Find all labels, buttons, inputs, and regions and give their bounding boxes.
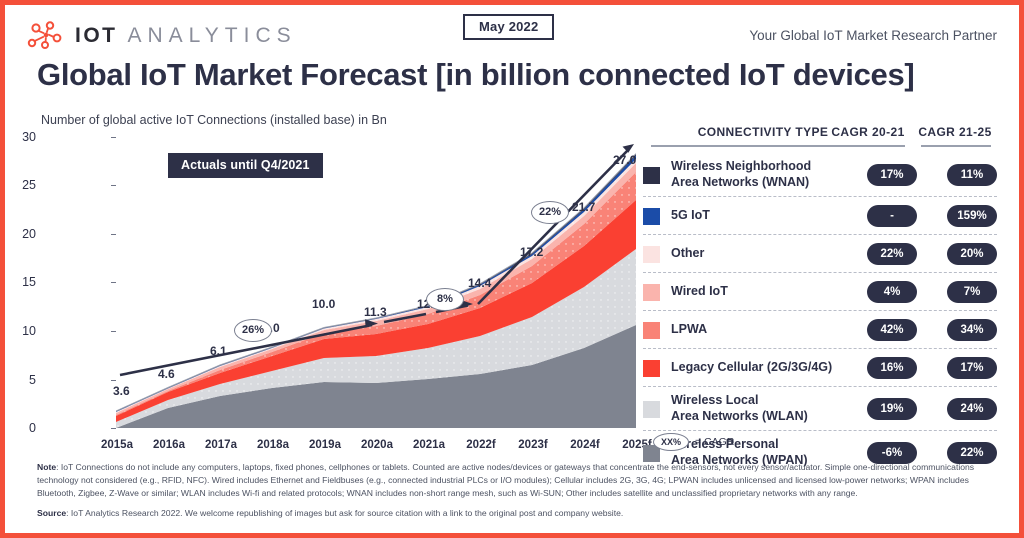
cagr-pill-20-21: - [867, 205, 917, 227]
data-label-2019a: 10.0 [312, 297, 335, 311]
cagr-pill-21-25: 34% [947, 319, 997, 341]
source-body: : IoT Analytics Research 2022. We welcom… [66, 508, 623, 518]
cagr-pill-20-21: 19% [867, 398, 917, 420]
legend-swatch-wlan [643, 401, 660, 418]
legend-table: CONNECTIVITY TYPE CAGR 20-21 CAGR 21-25 … [643, 123, 1003, 475]
y-tick-label: 15 [0, 275, 36, 289]
date-badge: May 2022 [463, 14, 554, 40]
cagr-pill-20-21: 4% [867, 281, 917, 303]
legend-swatch-lpwa [643, 322, 660, 339]
data-label-2020a: 11.3 [364, 305, 387, 319]
cagr-pill-20-21: 17% [867, 164, 917, 186]
tagline: Your Global IoT Market Research Partner [749, 28, 997, 43]
legend-label-line2: Area Networks (WLAN) [671, 409, 808, 423]
y-tick-label: 0 [0, 421, 36, 435]
cagr-pill-21-25: 24% [947, 398, 997, 420]
note-label: Note [37, 462, 56, 472]
note-body: : IoT Connections do not include any com… [37, 462, 974, 498]
cagr-pill-20-21: 16% [867, 357, 917, 379]
cagr-pill-21-25: 17% [947, 357, 997, 379]
chart-plot-area: Actuals until Q4/2021 3.6 4.6 6.1 8.0 10… [116, 137, 636, 437]
y-tick-label: 25 [0, 178, 36, 192]
data-label-2015a: 3.6 [113, 384, 130, 398]
cagr-key: XX% = CAGR [653, 433, 734, 451]
legend-label-wired-iot: Wired IoT [671, 284, 859, 300]
legend-label-line1: Wireless Neighborhood [671, 159, 811, 173]
data-label-2017a: 6.1 [210, 344, 227, 358]
cagr-pill-21-25: 159% [947, 205, 997, 227]
cagr-pill-21-25: 11% [947, 164, 997, 186]
cagr-key-bubble: XX% [653, 433, 689, 451]
legend-row-other[interactable]: Other 22% 20% [643, 235, 1003, 273]
legend-swatch-wired-iot [643, 284, 660, 301]
area-chart: 30 25 20 15 10 5 0 [41, 127, 637, 447]
logo-text-analytics: ANALYTICS [128, 24, 297, 48]
legend-swatch-legacy-cellular [643, 360, 660, 377]
legend-row-legacy-cellular[interactable]: Legacy Cellular (2G/3G/4G) 16% 17% [643, 349, 1003, 387]
cagr-pill-21-25: 7% [947, 281, 997, 303]
legend-row-wlan[interactable]: Wireless Local Area Networks (WLAN) 19% … [643, 387, 1003, 431]
cagr-annotation-8: 8% [426, 288, 464, 311]
legend-label-lpwa: LPWA [671, 322, 859, 338]
cagr-annotation-26: 26% [234, 319, 272, 342]
network-nodes-icon [27, 21, 65, 51]
legend-row-5g-iot[interactable]: 5G IoT - 159% [643, 197, 1003, 235]
source-label: Source [37, 508, 66, 518]
legend-label-other: Other [671, 246, 859, 262]
footnotes: Note: IoT Connections do not include any… [37, 461, 999, 520]
y-tick-label: 30 [0, 130, 36, 144]
source-paragraph: Source: IoT Analytics Research 2022. We … [37, 507, 999, 520]
note-paragraph: Note: IoT Connections do not include any… [37, 461, 999, 500]
page-title: Global IoT Market Forecast [in billion c… [37, 57, 914, 93]
legend-label-5g-iot: 5G IoT [671, 208, 859, 224]
data-label-2016a: 4.6 [158, 367, 175, 381]
legend-swatch-wnan [643, 167, 660, 184]
chart-subtitle: Number of global active IoT Connections … [41, 113, 387, 127]
cagr-pill-20-21: 22% [867, 243, 917, 265]
legend-label-wnan: Wireless Neighborhood Area Networks (WNA… [671, 159, 859, 190]
legend-label-wlan: Wireless Local Area Networks (WLAN) [671, 393, 859, 424]
data-label-2024f: 21.7 [572, 200, 595, 214]
data-label-2025f: 27.0 [613, 153, 636, 167]
legend-label-line2: Area Networks (WNAN) [671, 175, 809, 189]
legend-label-line1: Wireless Local [671, 393, 758, 407]
data-label-2022f: 14.4 [468, 276, 491, 290]
legend-header-cagr-21-25: CAGR 21-25 [915, 125, 995, 139]
logo-text-iot: IOT [75, 24, 118, 48]
y-tick-label: 5 [0, 373, 36, 387]
y-tick-label: 20 [0, 227, 36, 241]
legend-swatch-5g-iot [643, 208, 660, 225]
y-tick-label: 10 [0, 324, 36, 338]
iot-analytics-logo: IOT ANALYTICS [27, 21, 297, 51]
legend-label-legacy-cellular: Legacy Cellular (2G/3G/4G) [671, 360, 859, 376]
legend-row-wired-iot[interactable]: Wired IoT 4% 7% [643, 273, 1003, 311]
legend-row-wnan[interactable]: Wireless Neighborhood Area Networks (WNA… [643, 153, 1003, 197]
legend-swatch-other [643, 246, 660, 263]
legend-header-row: CONNECTIVITY TYPE CAGR 20-21 CAGR 21-25 [643, 123, 1003, 153]
cagr-pill-21-25: 20% [947, 243, 997, 265]
actuals-badge: Actuals until Q4/2021 [168, 153, 323, 178]
infographic-frame: IOT ANALYTICS May 2022 Your Global IoT M… [0, 0, 1024, 538]
cagr-pill-20-21: 42% [867, 319, 917, 341]
data-label-2023f: 17.2 [520, 245, 543, 259]
legend-header-cagr-20-21: CAGR 20-21 [828, 125, 908, 139]
cagr-annotation-22: 22% [531, 201, 569, 224]
stacked-area-svg [116, 137, 636, 437]
header: IOT ANALYTICS May 2022 Your Global IoT M… [5, 5, 1019, 51]
legend-row-lpwa[interactable]: LPWA 42% 34% [643, 311, 1003, 349]
cagr-key-text: = CAGR [695, 436, 734, 448]
